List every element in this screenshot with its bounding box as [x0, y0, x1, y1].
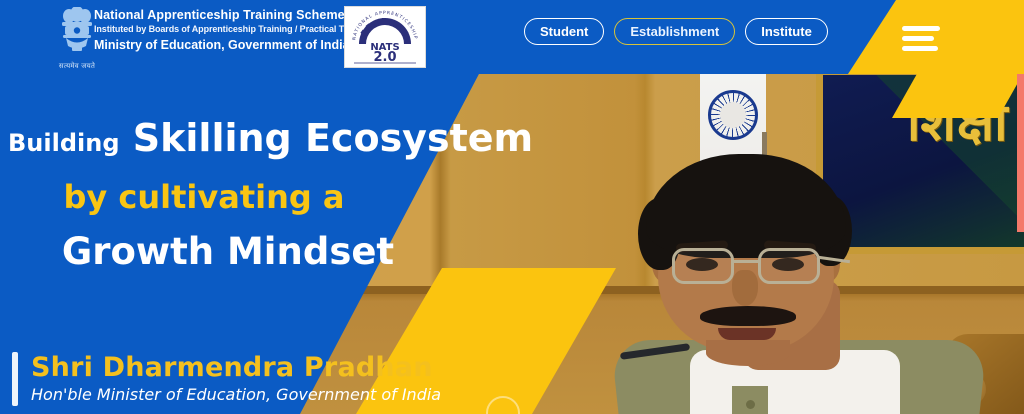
eyeglass-lens-right — [758, 248, 820, 284]
hamburger-menu-icon[interactable] — [902, 26, 940, 50]
headline-lead: Building — [8, 129, 120, 157]
org-subtitle: Instituted by Boards of Apprenticeship T… — [94, 23, 344, 36]
org-ministry: Ministry of Education, Government of Ind… — [94, 37, 344, 53]
nav-button-institute[interactable]: Institute — [745, 18, 828, 45]
site-header: सत्यमेव जयते National Apprenticeship Tra… — [0, 0, 1024, 74]
hero-banner: शिक्षा — [0, 0, 1024, 414]
headline-main: Skilling Ecosystem — [133, 116, 533, 160]
mouth — [718, 328, 776, 340]
nats-logo[interactable]: NATIONAL APPRENTICESHIP TRAINING SCHEME … — [344, 6, 426, 68]
headline-line-3: Growth Mindset — [0, 225, 520, 279]
org-titles: National Apprenticeship Training Scheme … — [94, 8, 344, 53]
headline-line-2: by cultivating a — [0, 169, 520, 225]
nats-logo-icon: NATIONAL APPRENTICESHIP TRAINING SCHEME … — [346, 8, 424, 66]
hair — [646, 154, 846, 258]
moustache — [700, 306, 796, 326]
eyeglass-bridge — [733, 260, 759, 263]
speaker-name: Shri Dharmendra Pradhan — [31, 352, 441, 384]
org-title: National Apprenticeship Training Scheme … — [94, 8, 344, 23]
ashoka-emblem-icon — [56, 7, 98, 59]
header-nav: Student Establishment Institute — [524, 18, 828, 45]
headline-line-1: Building Skilling Ecosystem — [0, 112, 520, 169]
hamburger-bar-1 — [902, 26, 940, 31]
hamburger-bar-2 — [902, 36, 934, 41]
vest-button — [746, 400, 755, 409]
emblem-caption: सत्यमेव जयते — [56, 62, 98, 71]
ashoka-emblem: सत्यमेव जयते — [56, 7, 98, 67]
hero-headline: Building Skilling Ecosystem by cultivati… — [0, 112, 520, 279]
nose — [732, 270, 758, 306]
nav-button-establishment[interactable]: Establishment — [614, 18, 735, 45]
chin — [706, 340, 790, 366]
hamburger-bar-3 — [902, 46, 938, 51]
speaker-role: Hon'ble Minister of Education, Governmen… — [31, 384, 441, 406]
eyeglass-lens-left — [672, 248, 734, 284]
speaker-accent-bar — [12, 352, 18, 406]
chakra-hub — [720, 102, 746, 128]
nav-button-student[interactable]: Student — [524, 18, 604, 45]
person-figure — [636, 154, 966, 414]
speaker-credit: Shri Dharmendra Pradhan Hon'ble Minister… — [12, 352, 441, 406]
